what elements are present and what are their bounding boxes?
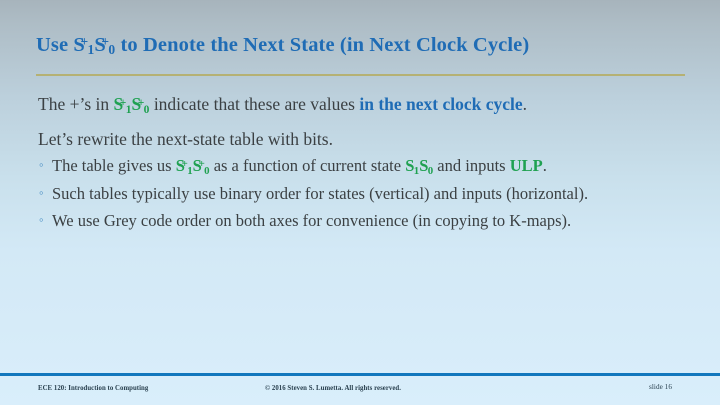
bullet-variable-s1-current-base: S: [405, 156, 414, 175]
slide-footer: ECE 120: Introduction to Computing © 201…: [0, 385, 720, 399]
bullet-item-grey-code: ◦We use Grey code order on both axes for…: [38, 210, 678, 231]
paragraph-plus-meaning: The +’s in S+1S+0 indicate that these ar…: [38, 93, 678, 118]
slide-title: Use S+1S+0 to Denote the Next State (in …: [36, 34, 686, 58]
bullet-variable-s0-current: S0: [419, 156, 433, 175]
bullet-variable-s0-next: S+0: [193, 156, 210, 175]
bullet-1-part3: and inputs: [433, 156, 510, 175]
paragraph-1-part3: .: [523, 94, 527, 114]
bullet-variable-s1-next: S+1: [176, 156, 193, 175]
title-divider: [36, 74, 685, 76]
bullet-2-text: Such tables typically use binary order f…: [52, 184, 588, 203]
title-text-pre: Use: [36, 34, 73, 56]
title-variable-s1-next: S+1: [73, 34, 94, 56]
footer-course-label: ECE 120: Introduction to Computing: [38, 385, 148, 392]
bullet-inputs-label: ULP: [510, 156, 543, 175]
paragraph-1-emphasis: in the next clock cycle: [359, 94, 522, 114]
title-text-post: to Denote the Next State (in Next Clock …: [115, 34, 529, 56]
bullet-item-binary-order: ◦Such tables typically use binary order …: [38, 183, 678, 204]
bullet-1-part2: as a function of current state: [210, 156, 406, 175]
paragraph-rewrite-table: Let’s rewrite the next-state table with …: [38, 128, 678, 151]
paragraph-1-part1: The +’s in: [38, 94, 114, 114]
bullet-marker-icon: ◦: [39, 155, 44, 174]
bullet-1-part4: .: [543, 156, 547, 175]
bullet-item-table-function: ◦The table gives us S+1S+0 as a function…: [38, 155, 678, 178]
bullet-marker-icon: ◦: [39, 183, 44, 202]
footer-copyright-label: © 2016 Steven S. Lumetta. All rights res…: [265, 385, 401, 392]
bullet-marker-icon: ◦: [39, 210, 44, 229]
footer-slide-number: slide 16: [649, 383, 672, 391]
body-variable-s1-next: S+1: [114, 94, 132, 114]
bullet-3-text: We use Grey code order on both axes for …: [52, 211, 571, 230]
title-variable-s0-next: S+0: [94, 34, 115, 56]
slide-canvas: Use S+1S+0 to Denote the Next State (in …: [0, 0, 720, 405]
footer-divider: [0, 373, 720, 376]
slide-body: The +’s in S+1S+0 indicate that these ar…: [38, 93, 678, 237]
bullet-variable-s0-current-base: S: [419, 156, 428, 175]
paragraph-1-part2: indicate that these are values: [149, 94, 359, 114]
body-variable-s0-next: S+0: [131, 94, 149, 114]
bullet-1-part1: The table gives us: [52, 156, 176, 175]
bullet-variable-s1-current: S1: [405, 156, 419, 175]
bullet-list: ◦The table gives us S+1S+0 as a function…: [38, 155, 678, 231]
